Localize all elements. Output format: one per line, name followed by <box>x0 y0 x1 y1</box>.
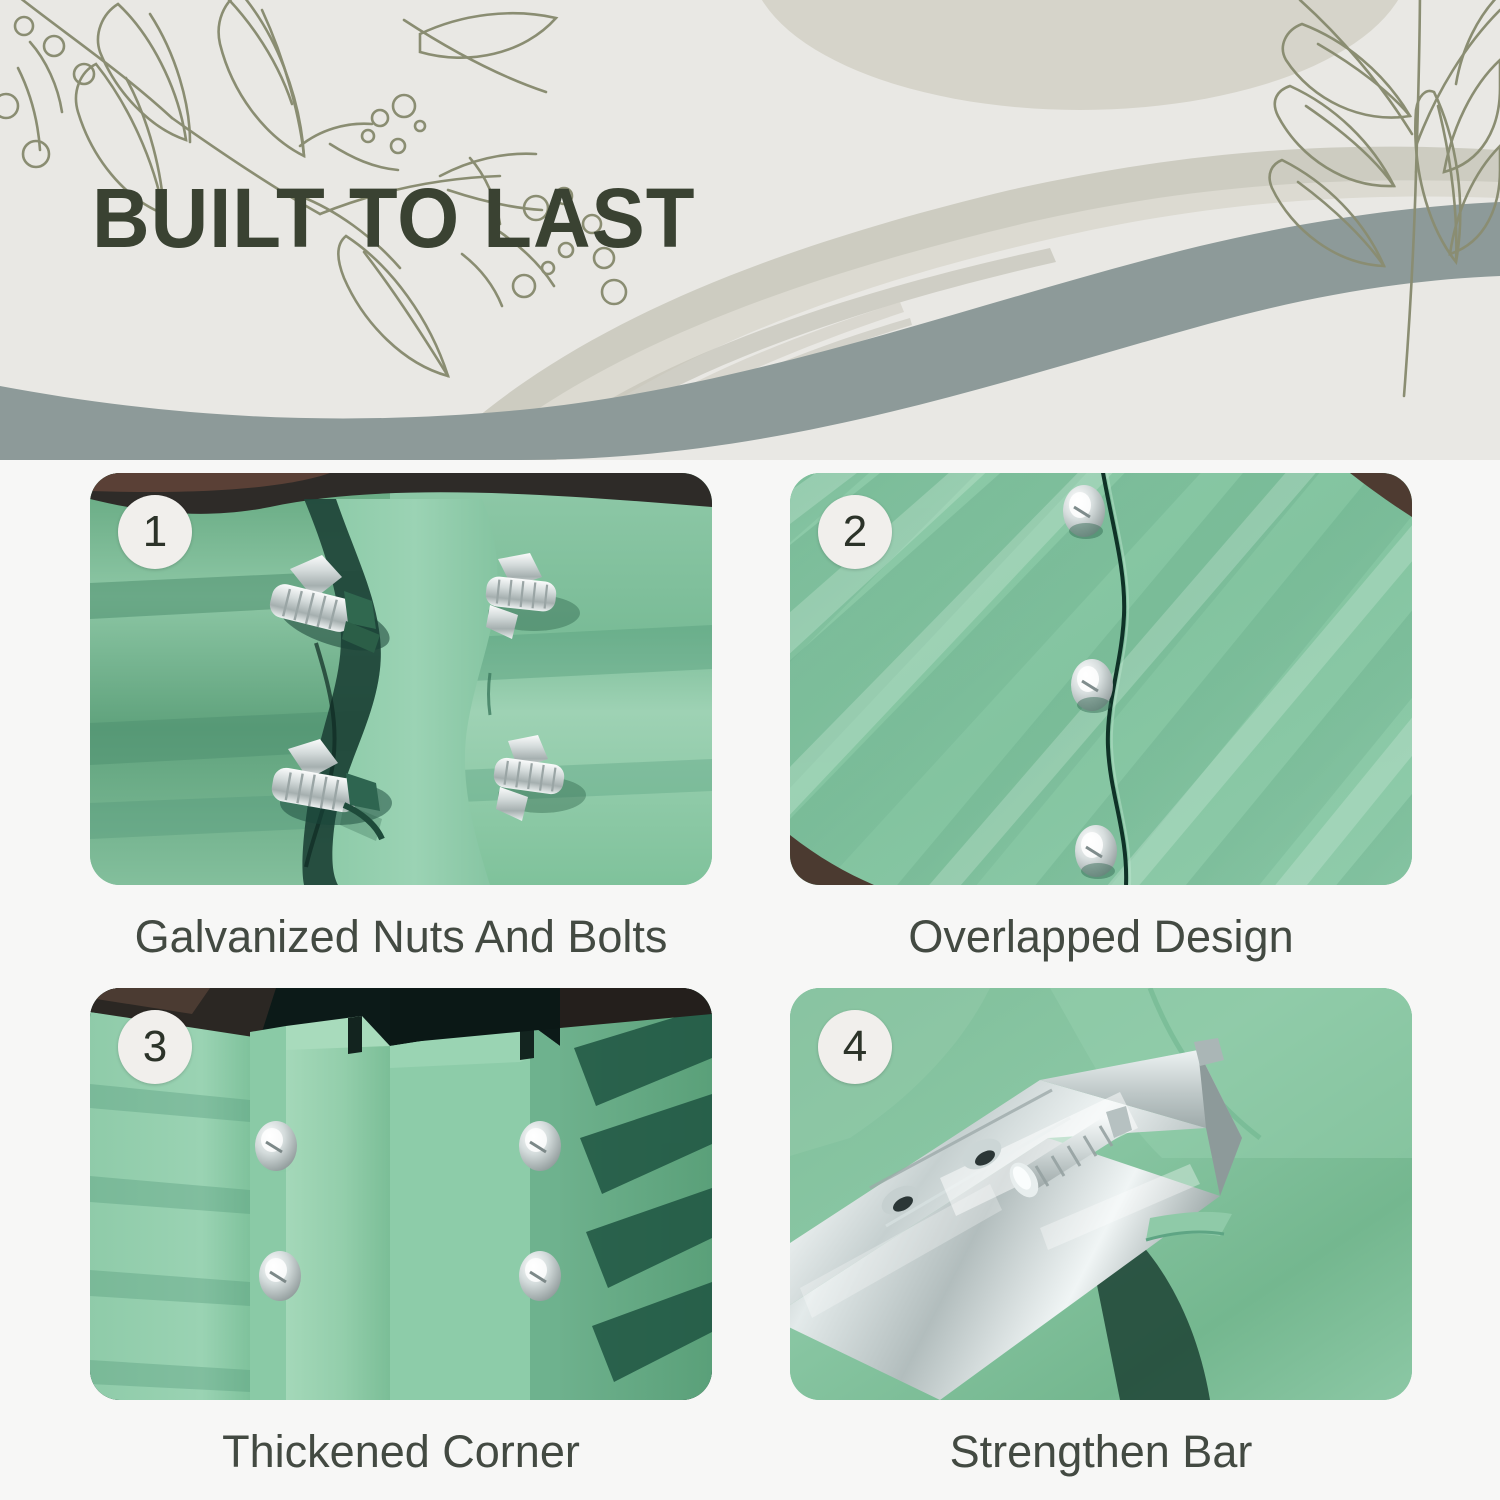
feature-badge-1: 1 <box>118 495 192 569</box>
feature-caption-4: Strengthen Bar <box>790 1426 1412 1478</box>
feature-card-2[interactable]: 2 Overlapped Design <box>790 473 1412 963</box>
corner-screw-bottom-left <box>259 1251 301 1301</box>
feature-caption-2: Overlapped Design <box>790 911 1412 963</box>
seam-screw-top <box>1063 485 1105 539</box>
feature-card-1[interactable]: 1 Galvanized Nuts And Bolts <box>90 473 712 963</box>
feature-photo-2[interactable]: 2 <box>790 473 1412 885</box>
corner-screw-top-right <box>519 1121 561 1171</box>
feature-caption-3: Thickened Corner <box>90 1426 712 1478</box>
page-title: BUILT TO LAST <box>92 176 695 260</box>
feature-photo-1[interactable]: 1 <box>90 473 712 885</box>
seam-screw-middle <box>1071 659 1113 713</box>
feature-grid: 1 Galvanized Nuts And Bolts <box>0 460 1500 1500</box>
feature-card-4[interactable]: 4 Strengthen Bar <box>790 988 1412 1478</box>
corner-screw-bottom-right <box>519 1251 561 1301</box>
feature-badge-3: 3 <box>118 1010 192 1084</box>
infographic-page: BUILT TO LAST <box>0 0 1500 1500</box>
feature-badge-2: 2 <box>818 495 892 569</box>
feature-badge-4: 4 <box>818 1010 892 1084</box>
feature-caption-1: Galvanized Nuts And Bolts <box>90 911 712 963</box>
seam-screw-bottom <box>1075 825 1117 879</box>
header-banner: BUILT TO LAST <box>0 0 1500 460</box>
feature-photo-3[interactable]: 3 <box>90 988 712 1400</box>
feature-photo-4[interactable]: 4 <box>790 988 1412 1400</box>
feature-card-3[interactable]: 3 Thickened Corner <box>90 988 712 1478</box>
header-blob-shape <box>750 0 1410 110</box>
